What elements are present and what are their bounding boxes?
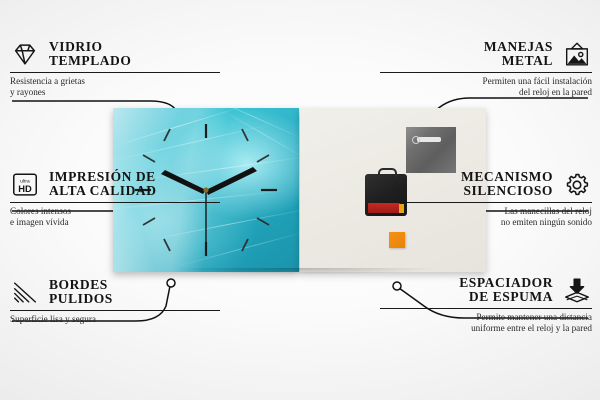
foam-spacer-arrow-icon (562, 277, 592, 304)
feature-description: Superficie lisa y segura (10, 314, 220, 325)
divider (10, 310, 220, 311)
svg-text:HD: HD (18, 184, 32, 194)
feature-title: MANEJAS METAL (484, 40, 553, 68)
feature-description: Permiten una fácil instalación del reloj… (380, 76, 592, 99)
feature-title: MECANISMO SILENCIOSO (461, 170, 553, 198)
diamond-icon (10, 41, 40, 68)
divider (380, 202, 592, 203)
polished-edge-icon (10, 279, 40, 306)
feature-mecanismo-silencioso: MECANISMO SILENCIOSO Las manecillas del … (380, 170, 592, 229)
divider (380, 308, 592, 309)
feature-manejas-metal: MANEJAS METAL Permiten una fácil instala… (380, 40, 592, 99)
feature-title: BORDES PULIDOS (49, 278, 113, 306)
feature-vidrio-templado: VIDRIO TEMPLADO Resistencia a grietas y … (10, 40, 220, 99)
feature-title: ESPACIADOR DE ESPUMA (459, 276, 553, 304)
feature-description: Resistencia a grietas y rayones (10, 76, 220, 99)
framed-picture-hanger-icon (562, 41, 592, 68)
feature-title: VIDRIO TEMPLADO (49, 40, 131, 68)
divider (10, 72, 220, 73)
feature-description: Las manecillas del reloj no emiten ningú… (380, 206, 592, 229)
feature-impresion-alta-calidad: ultra HD IMPRESIÓN DE ALTA CALIDAD Color… (10, 170, 220, 229)
feature-espaciador-espuma: ESPACIADOR DE ESPUMA Permite mantener un… (380, 276, 592, 335)
gear-icon (562, 171, 592, 198)
feature-description: Permite mantener una distancia uniforme … (380, 312, 592, 335)
ultra-hd-badge-icon: ultra HD (10, 171, 40, 198)
metal-hanger-part (406, 127, 456, 173)
feature-description: Colores intensos e imagen vívida (10, 206, 220, 229)
feature-bordes-pulidos: BORDES PULIDOS Superficie lisa y segura (10, 278, 220, 325)
feature-title: IMPRESIÓN DE ALTA CALIDAD (49, 170, 157, 198)
divider (10, 202, 220, 203)
infographic-canvas: VIDRIO TEMPLADO Resistencia a grietas y … (0, 0, 600, 400)
foam-spacer-part (389, 232, 405, 248)
divider (380, 72, 592, 73)
